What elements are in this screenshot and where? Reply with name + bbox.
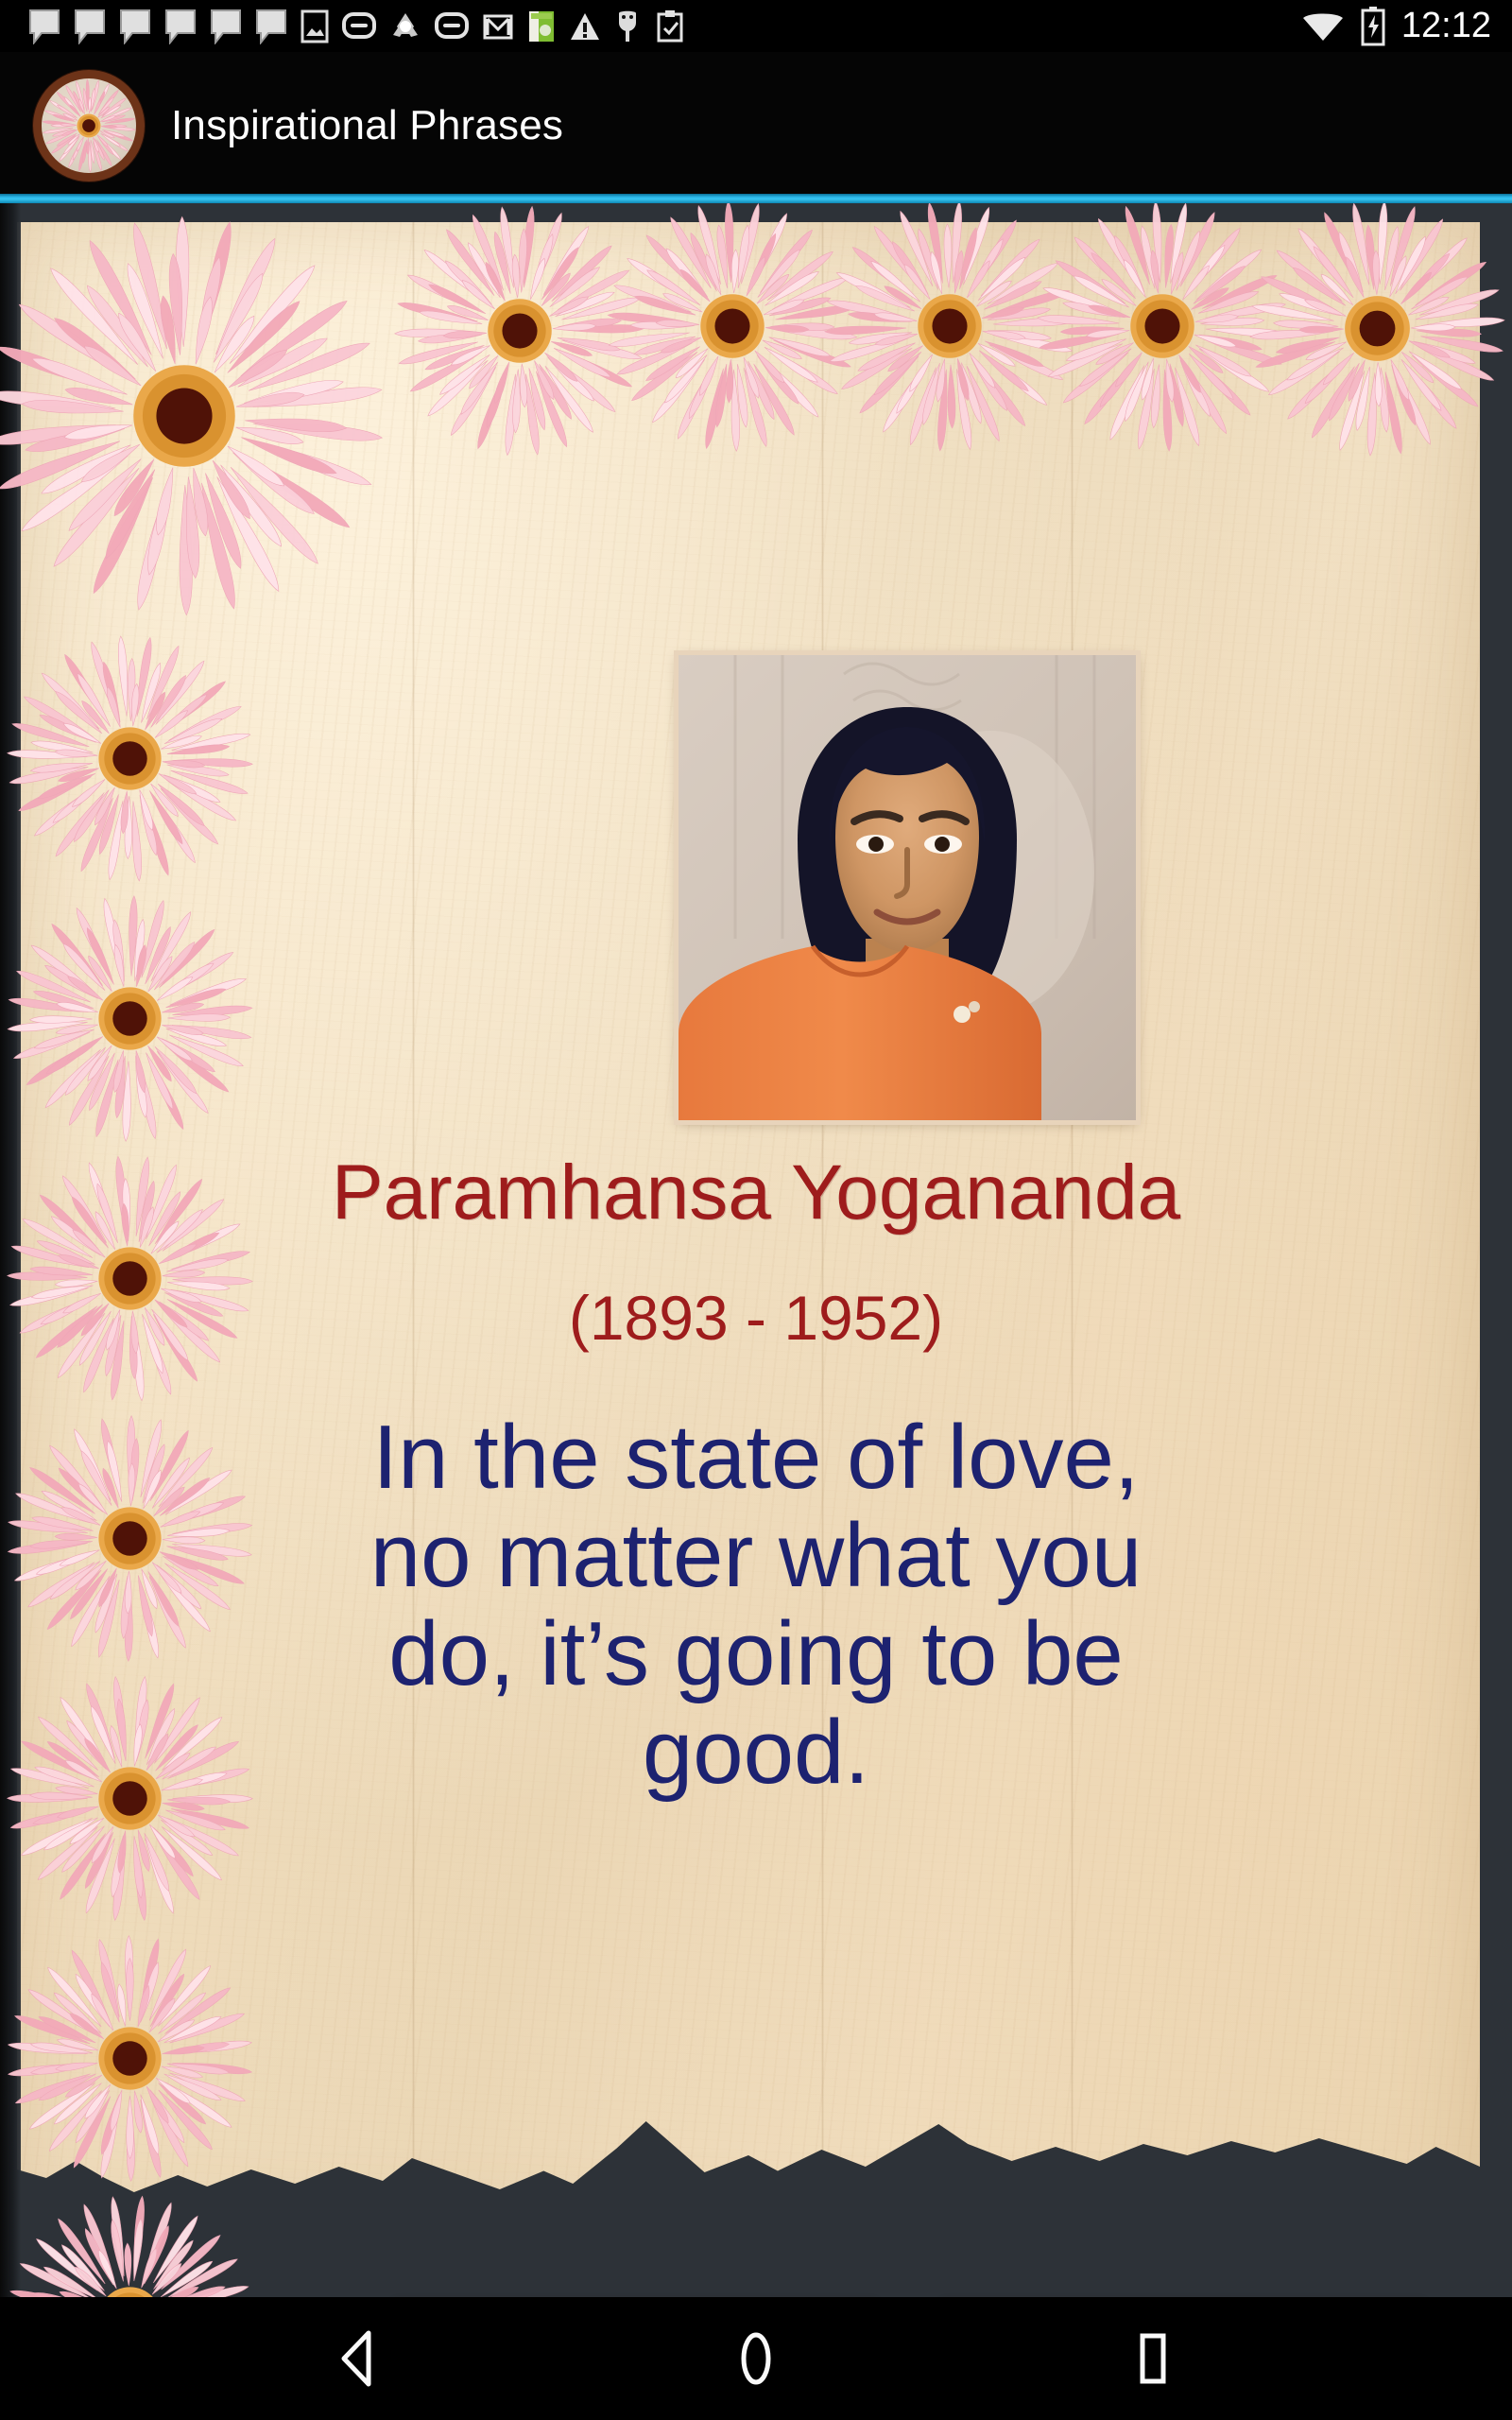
message-bubble-icon	[119, 9, 151, 44]
warning-icon	[569, 10, 601, 43]
message-bubble-icon	[210, 9, 242, 44]
message-bubble-icon	[164, 9, 197, 44]
app-title: Inspirational Phrases	[171, 102, 563, 149]
android-market-icon	[527, 9, 556, 43]
app-bar: Inspirational Phrases	[0, 52, 1512, 199]
gmail-icon	[482, 10, 514, 43]
app-bar-accent-divider	[0, 194, 1512, 203]
android-navigation-bar	[0, 2297, 1512, 2420]
author-years: (1893 - 1952)	[0, 1281, 1512, 1355]
status-bar-system-icons: 12:12	[1301, 0, 1491, 52]
android-icon	[614, 9, 641, 43]
message-bubble-icon	[255, 9, 287, 44]
home-icon[interactable]	[713, 2316, 799, 2401]
recents-icon[interactable]	[1110, 2316, 1195, 2401]
quote-card: Paramhansa Yogananda (1893 - 1952) In th…	[0, 203, 1512, 2297]
wifi-icon	[1301, 9, 1345, 43]
drive-icon	[389, 10, 421, 43]
status-bar-notification-icons	[0, 0, 684, 52]
clipboard-check-icon	[654, 9, 684, 43]
back-icon[interactable]	[317, 2316, 402, 2401]
hangouts-icon	[342, 10, 376, 43]
author-portrait	[679, 655, 1136, 1120]
quote-text: In the state of love, no matter what you…	[312, 1409, 1200, 1802]
author-name: Paramhansa Yogananda	[0, 1149, 1512, 1237]
card-left-shadow	[0, 203, 21, 2297]
status-bar-clock: 12:12	[1401, 0, 1491, 52]
status-bar: 12:12	[0, 0, 1512, 52]
battery-charging-icon	[1360, 7, 1386, 46]
message-bubble-icon	[28, 9, 60, 44]
photo-icon	[301, 9, 329, 44]
hangouts-icon	[435, 10, 469, 43]
portrait-image	[679, 655, 1136, 1120]
flower-logo-icon[interactable]	[33, 70, 145, 181]
torn-paper-edge	[17, 2104, 1480, 2246]
message-bubble-icon	[74, 9, 106, 44]
